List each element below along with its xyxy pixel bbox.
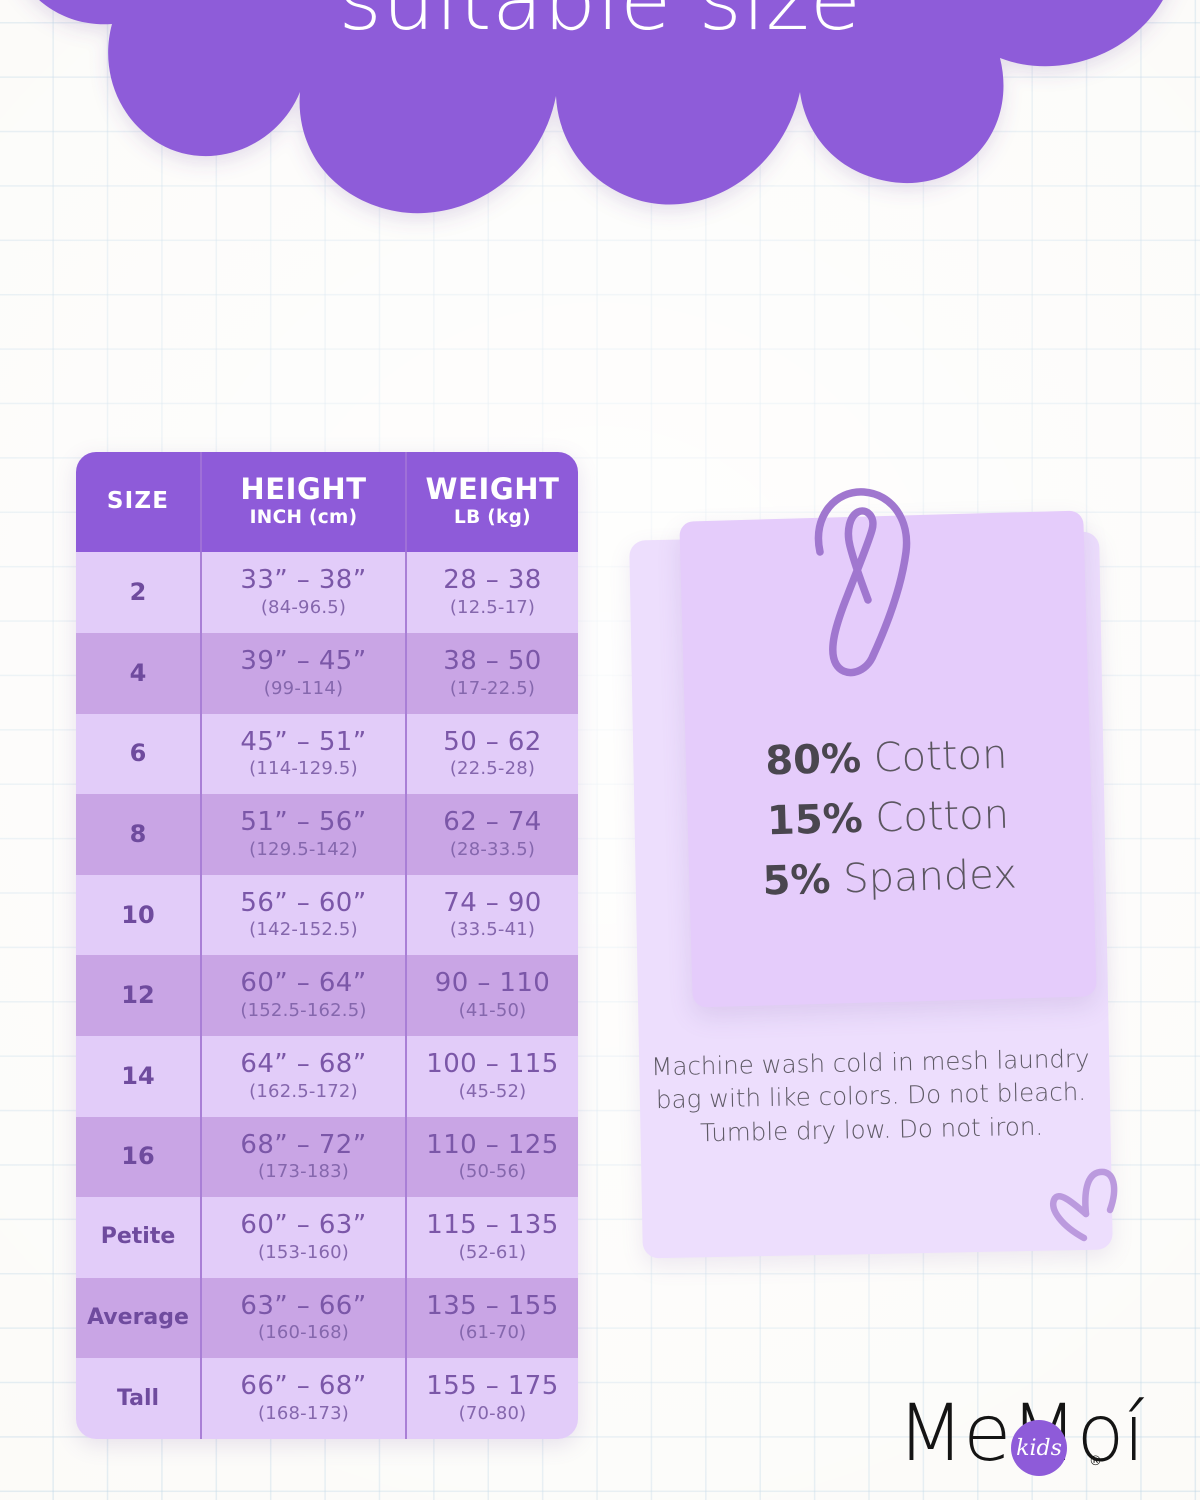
weight-lb: 50 – 62	[443, 728, 542, 757]
height-cm: (114-129.5)	[249, 758, 358, 779]
cell-size: Average	[76, 1278, 200, 1359]
cell-height: 60” – 64”(152.5-162.5)	[200, 955, 405, 1036]
table-header-row: SIZE HEIGHT INCH (cm) WEIGHT LB (kg)	[76, 452, 578, 552]
composition-material: Cotton	[860, 732, 1008, 782]
cloud-shape-icon	[0, 0, 1200, 440]
cell-weight: 115 – 135(52-61)	[405, 1197, 578, 1278]
weight-lb: 90 – 110	[435, 969, 550, 998]
weight-lb: 28 – 38	[443, 566, 542, 595]
height-cm: (142-152.5)	[249, 919, 358, 940]
table-body: 233” – 38”(84-96.5)28 – 38(12.5-17)439” …	[76, 552, 578, 1439]
column-header-height: HEIGHT INCH (cm)	[200, 452, 405, 552]
size-value: 4	[130, 659, 147, 687]
cell-height: 68” – 72”(173-183)	[200, 1117, 405, 1198]
composition-material: Spandex	[830, 851, 1018, 902]
table-row: 1464” – 68”(162.5-172)100 – 115(45-52)	[76, 1036, 578, 1117]
height-inches: 51” – 56”	[240, 808, 366, 837]
composition-material: Cotton	[862, 792, 1010, 842]
height-cm: (162.5-172)	[249, 1081, 358, 1102]
height-inches: 68” – 72”	[240, 1131, 366, 1160]
column-header-size-label: SIZE	[107, 489, 169, 513]
size-value: Tall	[117, 1386, 159, 1411]
height-inches: 64” – 68”	[240, 1050, 366, 1079]
cell-height: 63” – 66”(160-168)	[200, 1278, 405, 1359]
table-row: Petite60” – 63”(153-160)115 – 135(52-61)	[76, 1197, 578, 1278]
weight-kg: (70-80)	[459, 1403, 527, 1424]
height-inches: 63” – 66”	[240, 1292, 366, 1321]
cell-weight: 135 – 155(61-70)	[405, 1278, 578, 1359]
size-value: 2	[130, 578, 147, 606]
size-value: 8	[130, 820, 147, 848]
weight-kg: (61-70)	[459, 1322, 527, 1343]
title-line-2: suitable size	[0, 0, 1200, 41]
cell-size: 2	[76, 552, 200, 633]
composition-line: 15% Cotton	[685, 782, 1091, 853]
logo-kids-badge: kids	[1011, 1420, 1067, 1476]
cell-size: 8	[76, 794, 200, 875]
cell-size: 12	[76, 955, 200, 1036]
size-value: 6	[130, 739, 147, 767]
cell-height: 45” – 51”(114-129.5)	[200, 714, 405, 795]
composition-percent: 15%	[766, 796, 863, 845]
weight-lb: 135 – 155	[426, 1292, 558, 1321]
heart-doodle-icon	[1040, 1162, 1136, 1254]
cell-weight: 74 – 90(33.5-41)	[405, 875, 578, 956]
cell-size: 16	[76, 1117, 200, 1198]
size-value: Average	[87, 1305, 189, 1330]
column-header-weight-label: WEIGHT	[425, 474, 559, 504]
cell-weight: 38 – 50(17-22.5)	[405, 633, 578, 714]
weight-kg: (17-22.5)	[450, 678, 535, 699]
weight-lb: 155 – 175	[426, 1372, 558, 1401]
weight-kg: (33.5-41)	[450, 919, 535, 940]
table-row: 439” – 45”(99-114)38 – 50(17-22.5)	[76, 633, 578, 714]
column-header-weight: WEIGHT LB (kg)	[405, 452, 578, 552]
weight-lb: 38 – 50	[443, 647, 542, 676]
cell-weight: 90 – 110(41-50)	[405, 955, 578, 1036]
logo-registered-mark: ®	[1089, 1454, 1102, 1469]
height-inches: 56” – 60”	[240, 889, 366, 918]
column-header-height-unit: INCH (cm)	[250, 507, 358, 528]
weight-kg: (52-61)	[459, 1242, 527, 1263]
table-row: 645” – 51”(114-129.5)50 – 62(22.5-28)	[76, 714, 578, 795]
height-inches: 60” – 64”	[240, 969, 366, 998]
table-row: Tall66” – 68”(168-173)155 – 175(70-80)	[76, 1358, 578, 1439]
cell-weight: 155 – 175(70-80)	[405, 1358, 578, 1439]
composition-percent: 80%	[765, 736, 862, 785]
weight-lb: 74 – 90	[443, 889, 542, 918]
height-cm: (153-160)	[258, 1242, 349, 1263]
cell-height: 33” – 38”(84-96.5)	[200, 552, 405, 633]
cell-size: 10	[76, 875, 200, 956]
table-row: 851” – 56”(129.5-142)62 – 74(28-33.5)	[76, 794, 578, 875]
height-cm: (152.5-162.5)	[240, 1000, 366, 1021]
height-inches: 39” – 45”	[240, 647, 366, 676]
weight-kg: (50-56)	[459, 1161, 527, 1182]
cell-weight: 62 – 74(28-33.5)	[405, 794, 578, 875]
cell-height: 64” – 68”(162.5-172)	[200, 1036, 405, 1117]
column-header-height-label: HEIGHT	[240, 474, 366, 504]
weight-kg: (22.5-28)	[450, 758, 535, 779]
cell-size: Petite	[76, 1197, 200, 1278]
weight-kg: (12.5-17)	[450, 597, 535, 618]
cell-size: 6	[76, 714, 200, 795]
height-cm: (84-96.5)	[261, 597, 346, 618]
weight-lb: 62 – 74	[443, 808, 542, 837]
column-header-size: SIZE	[76, 452, 200, 552]
cell-weight: 28 – 38(12.5-17)	[405, 552, 578, 633]
size-value: 14	[121, 1062, 154, 1090]
cell-size: 4	[76, 633, 200, 714]
weight-kg: (45-52)	[459, 1081, 527, 1102]
weight-kg: (41-50)	[459, 1000, 527, 1021]
column-header-weight-unit: LB (kg)	[454, 507, 531, 528]
page-title: Find your suitable size	[0, 0, 1200, 41]
table-row: 233” – 38”(84-96.5)28 – 38(12.5-17)	[76, 552, 578, 633]
weight-lb: 110 – 125	[426, 1131, 558, 1160]
weight-lb: 100 – 115	[426, 1050, 558, 1079]
composition-percent: 5%	[762, 857, 831, 905]
cell-height: 60” – 63”(153-160)	[200, 1197, 405, 1278]
cell-size: Tall	[76, 1358, 200, 1439]
care-instructions: Machine wash cold in mesh laundry bag wi…	[647, 1042, 1095, 1150]
cell-size: 14	[76, 1036, 200, 1117]
cell-weight: 50 – 62(22.5-28)	[405, 714, 578, 795]
table-row: 1056” – 60”(142-152.5)74 – 90(33.5-41)	[76, 875, 578, 956]
height-inches: 45” – 51”	[240, 728, 366, 757]
cell-height: 56” – 60”(142-152.5)	[200, 875, 405, 956]
cell-weight: 100 – 115(45-52)	[405, 1036, 578, 1117]
height-cm: (129.5-142)	[249, 839, 358, 860]
cell-height: 51” – 56”(129.5-142)	[200, 794, 405, 875]
table-row: 1668” – 72”(173-183)110 – 125(50-56)	[76, 1117, 578, 1198]
header-cloud-banner: Find your suitable size	[0, 0, 1200, 440]
size-value: 12	[121, 981, 154, 1009]
composition-line: 5% Spandex	[687, 842, 1093, 913]
table-row: Average63” – 66”(160-168)135 – 155(61-70…	[76, 1278, 578, 1359]
size-value: 10	[121, 901, 154, 929]
height-cm: (160-168)	[258, 1322, 349, 1343]
size-chart-table: SIZE HEIGHT INCH (cm) WEIGHT LB (kg) 233…	[76, 452, 578, 1439]
size-value: Petite	[101, 1224, 176, 1249]
height-cm: (99-114)	[264, 678, 343, 699]
cell-height: 66” – 68”(168-173)	[200, 1358, 405, 1439]
height-cm: (173-183)	[258, 1161, 349, 1182]
height-cm: (168-173)	[258, 1403, 349, 1424]
fabric-composition: 80% Cotton15% Cotton5% Spandex	[684, 722, 1093, 913]
weight-kg: (28-33.5)	[450, 839, 535, 860]
memoi-kids-logo: MeMoí kids ®	[897, 1392, 1137, 1484]
height-inches: 60” – 63”	[240, 1211, 366, 1240]
paperclip-icon	[806, 482, 926, 682]
table-row: 1260” – 64”(152.5-162.5)90 – 110(41-50)	[76, 955, 578, 1036]
weight-lb: 115 – 135	[426, 1211, 558, 1240]
cell-height: 39” – 45”(99-114)	[200, 633, 405, 714]
size-value: 16	[121, 1142, 154, 1170]
height-inches: 66” – 68”	[240, 1372, 366, 1401]
height-inches: 33” – 38”	[240, 566, 366, 595]
cell-weight: 110 – 125(50-56)	[405, 1117, 578, 1198]
composition-line: 80% Cotton	[684, 722, 1090, 793]
